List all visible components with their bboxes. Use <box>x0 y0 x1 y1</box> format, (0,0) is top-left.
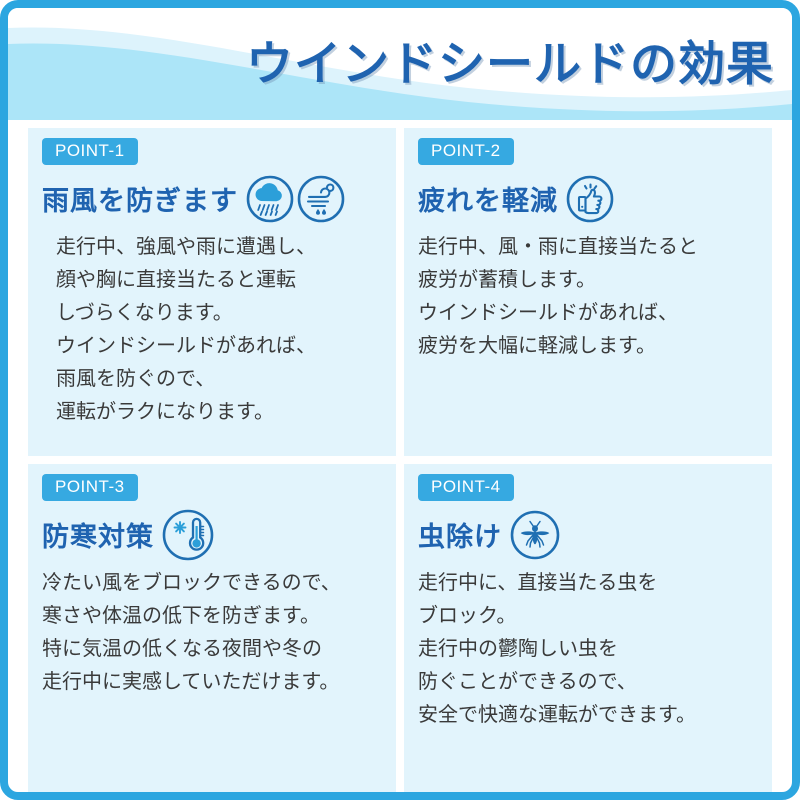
point-icons-3 <box>162 509 214 561</box>
point-body-line: 冷たい風をブロックできるので、 <box>42 566 382 599</box>
point-body-line: 運転がラクになります。 <box>42 395 382 428</box>
point-body-line: ウインドシールドがあれば、 <box>418 296 758 329</box>
point-heading-3: 防寒対策 <box>42 515 154 554</box>
wind-icon <box>297 175 345 223</box>
page-title: ウインドシールドの効果 <box>8 25 792 94</box>
point-heading-2: 疲れを軽減 <box>418 179 558 218</box>
point-body-line: 走行中に、直接当たる虫を <box>418 566 758 599</box>
point-body-line: 安全で快適な運転ができます。 <box>418 698 758 731</box>
point-heading-4: 虫除け <box>418 515 502 554</box>
infographic-frame: ウインドシールドの効果 POINT-1 雨風を防ぎます <box>0 0 800 800</box>
point-body-line: 雨風を防ぐので、 <box>42 362 382 395</box>
point-body-line: 走行中、風・雨に直接当たると <box>418 230 758 263</box>
point-body-3: 冷たい風をブロックできるので、 寒さや体温の低下を防ぎます。 特に気温の低くなる… <box>42 566 382 698</box>
point-body-line: 疲労が蓄積します。 <box>418 263 758 296</box>
point-body-line: 走行中の鬱陶しい虫を <box>418 632 758 665</box>
point-icons-4 <box>510 510 560 560</box>
point-badge-3: POINT-3 <box>42 474 138 501</box>
point-panel-4: POINT-4 虫除け <box>404 464 772 792</box>
mosquito-icon <box>510 510 560 560</box>
point-icons-1 <box>246 175 345 223</box>
point-heading-row-4: 虫除け <box>418 508 758 562</box>
point-icons-2 <box>566 175 614 223</box>
point-body-4: 走行中に、直接当たる虫を ブロック。 走行中の鬱陶しい虫を 防ぐことができるので… <box>418 566 758 731</box>
point-panel-3: POINT-3 防寒対策 <box>28 464 396 792</box>
point-badge-2: POINT-2 <box>418 138 514 165</box>
point-body-2: 走行中、風・雨に直接当たると 疲労が蓄積します。 ウインドシールドがあれば、 疲… <box>418 230 758 362</box>
thumbs-up-icon <box>566 175 614 223</box>
point-heading-row-2: 疲れを軽減 <box>418 172 758 226</box>
point-body-line: 走行中、強風や雨に遭遇し、 <box>42 230 382 263</box>
header-banner: ウインドシールドの効果 <box>8 8 792 120</box>
point-heading-1: 雨風を防ぎます <box>42 179 238 218</box>
point-heading-row-3: 防寒対策 <box>42 508 382 562</box>
points-grid: POINT-1 雨風を防ぎます <box>28 128 772 784</box>
point-body-line: 防ぐことができるので、 <box>418 665 758 698</box>
point-heading-row-1: 雨風を防ぎます <box>42 172 382 226</box>
point-panel-2: POINT-2 疲れを軽減 <box>404 128 772 456</box>
point-body-line: ブロック。 <box>418 599 758 632</box>
point-badge-4: POINT-4 <box>418 474 514 501</box>
point-body-line: 走行中に実感していただけます。 <box>42 665 382 698</box>
point-body-1: 走行中、強風や雨に遭遇し、 顔や胸に直接当たると運転 しづらくなります。 ウイン… <box>42 230 382 428</box>
point-body-line: 疲労を大幅に軽減します。 <box>418 329 758 362</box>
point-body-line: 寒さや体温の低下を防ぎます。 <box>42 599 382 632</box>
point-body-line: 特に気温の低くなる夜間や冬の <box>42 632 382 665</box>
thermometer-snowflake-icon <box>162 509 214 561</box>
point-body-line: ウインドシールドがあれば、 <box>42 329 382 362</box>
rain-cloud-icon <box>246 175 294 223</box>
point-badge-1: POINT-1 <box>42 138 138 165</box>
point-panel-1: POINT-1 雨風を防ぎます <box>28 128 396 456</box>
point-body-line: 顔や胸に直接当たると運転 <box>42 263 382 296</box>
point-body-line: しづらくなります。 <box>42 296 382 329</box>
